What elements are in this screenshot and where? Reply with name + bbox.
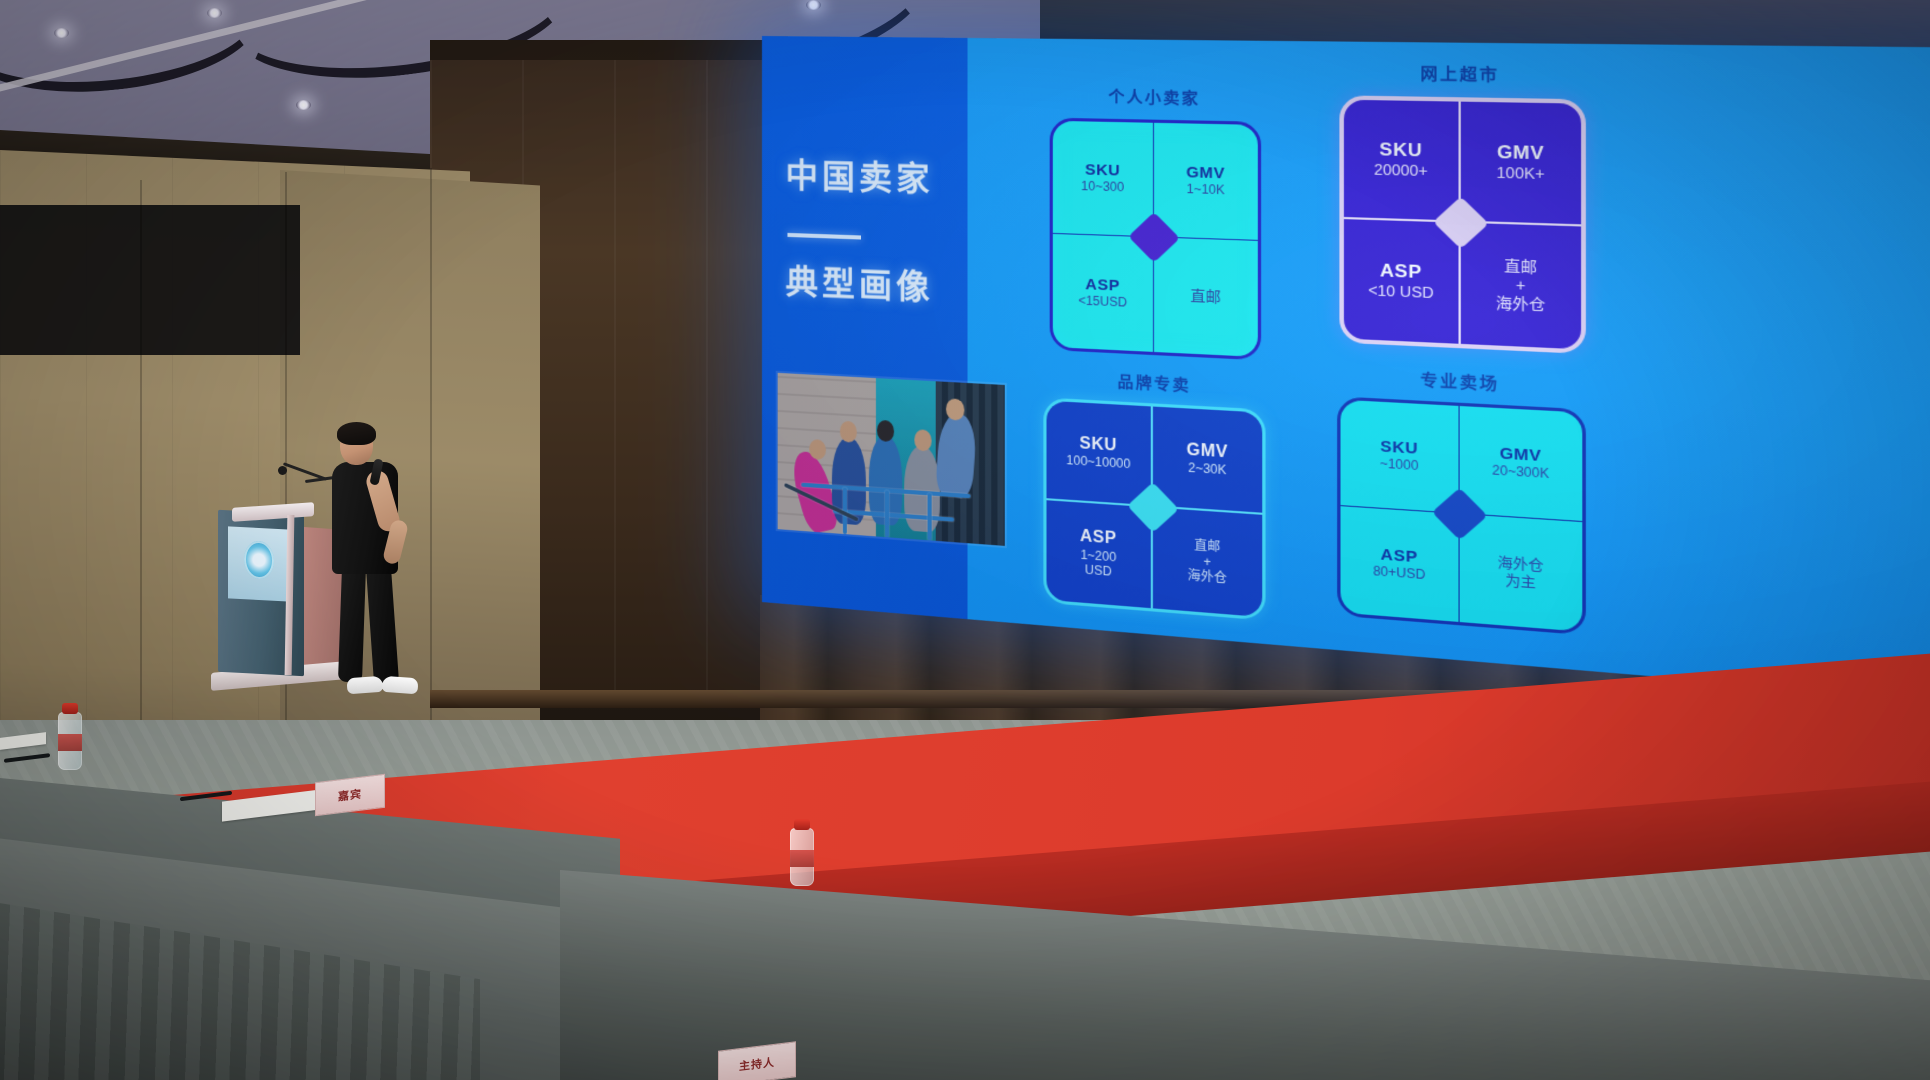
card-online-supermarket-label: 网上超市 <box>1317 61 1608 88</box>
cell-shipping: 直邮 <box>1154 237 1258 357</box>
cell-asp-value: 80+USD <box>1373 563 1425 582</box>
cell-sku-value: 100~10000 <box>1066 453 1130 472</box>
card-individual-seller-quadrants: SKU 10~300 GMV 1~10K ASP <15USD 直邮 <box>1050 118 1261 361</box>
cell-gmv-key: GMV <box>1500 444 1542 465</box>
water-bottle-left <box>58 712 82 770</box>
cell-sku: SKU 100~10000 <box>1047 401 1153 508</box>
cell-sku-key: SKU <box>1080 434 1118 455</box>
photo-person-4-head <box>914 429 931 451</box>
card-individual-seller[interactable]: 个人小卖家 SKU 10~300 GMV 1~10K ASP <15USD 直邮 <box>1027 84 1286 368</box>
cell-asp-unit: USD <box>1085 562 1112 579</box>
cell-sku-value: 20000+ <box>1374 161 1428 181</box>
slide-group-photo <box>778 373 1005 546</box>
cell-shipping-line2: 海外仓 <box>1496 294 1546 314</box>
cell-shipping-line2: 为主 <box>1505 571 1536 590</box>
photo-railing-post-3 <box>928 493 932 540</box>
photo-person-5-head <box>946 398 964 421</box>
cell-gmv-value: 20~300K <box>1492 463 1549 482</box>
card-online-supermarket[interactable]: 网上超市 SKU 20000+ GMV 100K+ ASP <10 USD 直邮… <box>1317 61 1608 378</box>
card-online-supermarket-quadrants: SKU 20000+ GMV 100K+ ASP <10 USD 直邮 + 海外… <box>1339 95 1585 354</box>
wall-dark-panel <box>0 205 300 355</box>
cell-shipping-plus: + <box>1516 276 1526 295</box>
led-presentation-screen: 中国卖家 典型画像 个人小卖家 <box>762 36 1930 715</box>
cell-asp: ASP 80+USD <box>1341 506 1460 622</box>
cell-shipping: 海外仓 为主 <box>1460 514 1583 632</box>
card-professional-marketplace[interactable]: 专业卖场 SKU ~1000 GMV 20~300K ASP 80+USD 海外… <box>1317 363 1608 655</box>
cell-gmv-value: 2~30K <box>1188 460 1226 478</box>
ceiling-spotlight-2 <box>207 8 222 18</box>
cell-gmv-key: GMV <box>1497 142 1544 165</box>
cell-gmv-key: GMV <box>1186 164 1225 183</box>
cell-shipping-line2: 海外仓 <box>1188 568 1227 586</box>
slide-title-line1: 中国卖家 <box>786 155 967 202</box>
slide-title-line2: 典型画像 <box>786 255 977 312</box>
presenter-hair <box>337 422 376 445</box>
cell-sku-value: ~1000 <box>1380 456 1419 474</box>
card-brand-store[interactable]: 品牌专卖 SKU 100~10000 GMV 2~30K ASP 1~200 U… <box>1027 365 1286 637</box>
cell-asp-value: <15USD <box>1078 293 1127 310</box>
cell-asp-value: <10 USD <box>1368 281 1434 302</box>
wall-seam-3 <box>430 168 432 728</box>
cell-sku-key: SKU <box>1085 161 1120 180</box>
photo-person-3-head <box>877 420 894 442</box>
bottle-label <box>790 850 814 867</box>
presenter-shoe-right <box>381 676 418 694</box>
cell-shipping-line1: 直邮 <box>1504 257 1537 277</box>
cell-asp: ASP <10 USD <box>1344 219 1461 344</box>
presenter-shoe-left <box>346 676 383 694</box>
cell-shipping-plus: + <box>1203 554 1211 570</box>
photo-person-2-head <box>840 421 857 443</box>
presenter-leg-left <box>338 566 366 683</box>
cell-shipping-line1: 直邮 <box>1194 538 1220 555</box>
water-bottle-center <box>790 828 814 886</box>
wall-beige-mid <box>280 170 540 805</box>
card-individual-seller-label: 个人小卖家 <box>1027 84 1286 110</box>
conference-photo-scene: 中国卖家 典型画像 个人小卖家 <box>0 0 1930 1080</box>
cell-gmv-key: GMV <box>1187 441 1228 463</box>
cell-shipping-value: 直邮 <box>1190 287 1221 306</box>
cell-sku: SKU 20000+ <box>1344 100 1461 223</box>
gooseneck-microphone-icon <box>278 466 287 475</box>
cell-shipping: 直邮 + 海外仓 <box>1153 507 1262 617</box>
bottle-label <box>58 734 82 751</box>
bottle-cap-icon <box>794 819 810 830</box>
cell-gmv: GMV 20~300K <box>1460 406 1583 522</box>
cell-gmv: GMV 100K+ <box>1461 102 1581 227</box>
cell-gmv-value: 1~10K <box>1186 182 1224 198</box>
card-professional-marketplace-quadrants: SKU ~1000 GMV 20~300K ASP 80+USD 海外仓 为主 <box>1337 396 1586 635</box>
ceiling-spotlight-3 <box>296 100 311 110</box>
cell-gmv: GMV 1~10K <box>1154 123 1258 241</box>
bottle-cap-icon <box>62 703 78 714</box>
cell-asp-key: ASP <box>1080 528 1117 550</box>
cell-gmv-value: 100K+ <box>1496 163 1544 183</box>
photo-person-1-head <box>809 439 826 460</box>
ceiling-spotlight-6 <box>806 0 821 10</box>
cell-asp: ASP <15USD <box>1053 234 1154 352</box>
card-brand-store-quadrants: SKU 100~10000 GMV 2~30K ASP 1~200 USD 直邮… <box>1043 397 1265 620</box>
wall-seam-1 <box>140 180 142 740</box>
cell-sku-key: SKU <box>1379 140 1422 162</box>
cell-sku-value: 10~300 <box>1081 179 1124 195</box>
podium-emblem-icon <box>244 540 274 580</box>
ceiling-spotlight-1 <box>54 28 69 38</box>
photo-railing-post-2 <box>885 490 889 537</box>
cell-sku: SKU ~1000 <box>1341 400 1460 514</box>
cell-sku-key: SKU <box>1380 438 1418 459</box>
cell-sku: SKU 10~300 <box>1053 121 1154 238</box>
cell-shipping: 直邮 + 海外仓 <box>1461 223 1581 350</box>
cell-asp-key: ASP <box>1085 275 1119 294</box>
cell-asp-key: ASP <box>1380 261 1422 284</box>
